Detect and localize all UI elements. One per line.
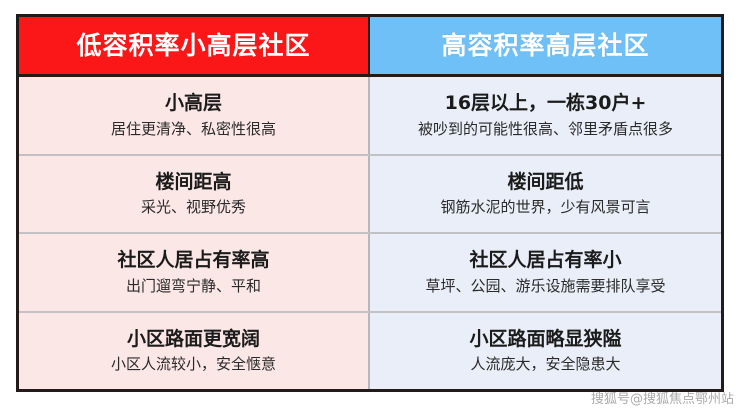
cell-subtitle: 居住更清净、私密性很高 bbox=[111, 120, 276, 139]
cell-title: 小高层 bbox=[165, 92, 222, 116]
cell-title: 楼间距高 bbox=[155, 171, 231, 195]
table-row: 楼间距高 采光、视野优秀 楼间距低 钢筋水泥的世界，少有风景可言 bbox=[19, 156, 721, 235]
cell-left-row2: 楼间距高 采光、视野优秀 bbox=[19, 156, 370, 233]
cell-left-row4: 小区路面更宽阔 小区人流较小，安全惬意 bbox=[19, 313, 370, 390]
cell-title: 楼间距低 bbox=[507, 171, 583, 195]
header-cell-low-plot-ratio: 低容积率小高层社区 bbox=[19, 17, 370, 74]
header-label-left: 低容积率小高层社区 bbox=[76, 33, 310, 58]
cell-right-row4: 小区路面略显狭隘 人流庞大，安全隐患大 bbox=[370, 313, 721, 390]
table-row: 小区路面更宽阔 小区人流较小，安全惬意 小区路面略显狭隘 人流庞大，安全隐患大 bbox=[19, 313, 721, 390]
cell-left-row3: 社区人居占有率高 出门遛弯宁静、平和 bbox=[19, 234, 370, 311]
table-header-row: 低容积率小高层社区 高容积率高层社区 bbox=[19, 17, 721, 77]
cell-right-row2: 楼间距低 钢筋水泥的世界，少有风景可言 bbox=[370, 156, 721, 233]
cell-title: 16层以上，一栋30户+ bbox=[445, 92, 647, 116]
table-row: 社区人居占有率高 出门遛弯宁静、平和 社区人居占有率小 草坪、公园、游乐设施需要… bbox=[19, 234, 721, 313]
cell-left-row1: 小高层 居住更清净、私密性很高 bbox=[19, 77, 370, 154]
cell-title: 小区路面略显狭隘 bbox=[469, 328, 621, 352]
cell-subtitle: 被吵到的可能性很高、邻里矛盾点很多 bbox=[418, 120, 673, 139]
cell-right-row1: 16层以上，一栋30户+ 被吵到的可能性很高、邻里矛盾点很多 bbox=[370, 77, 721, 154]
cell-subtitle: 钢筋水泥的世界，少有风景可言 bbox=[440, 198, 650, 217]
cell-subtitle: 出门遛弯宁静、平和 bbox=[126, 277, 261, 296]
cell-subtitle: 人流庞大，安全隐患大 bbox=[470, 355, 620, 374]
cell-subtitle: 采光、视野优秀 bbox=[141, 198, 246, 217]
header-cell-high-plot-ratio: 高容积率高层社区 bbox=[370, 17, 721, 74]
cell-subtitle: 草坪、公园、游乐设施需要排队享受 bbox=[425, 277, 665, 296]
cell-title: 小区路面更宽阔 bbox=[127, 328, 260, 352]
cell-title: 社区人居占有率小 bbox=[469, 249, 621, 273]
header-label-right: 高容积率高层社区 bbox=[441, 33, 649, 58]
comparison-table: 低容积率小高层社区 高容积率高层社区 小高层 居住更清净、私密性很高 16层以上… bbox=[16, 14, 724, 392]
cell-subtitle: 小区人流较小，安全惬意 bbox=[111, 355, 276, 374]
cell-title: 社区人居占有率高 bbox=[117, 249, 269, 273]
cell-right-row3: 社区人居占有率小 草坪、公园、游乐设施需要排队享受 bbox=[370, 234, 721, 311]
table-row: 小高层 居住更清净、私密性很高 16层以上，一栋30户+ 被吵到的可能性很高、邻… bbox=[19, 77, 721, 156]
watermark-text: 搜狐号@搜狐焦点鄂州站 bbox=[591, 388, 734, 407]
table-body: 小高层 居住更清净、私密性很高 16层以上，一栋30户+ 被吵到的可能性很高、邻… bbox=[19, 77, 721, 389]
